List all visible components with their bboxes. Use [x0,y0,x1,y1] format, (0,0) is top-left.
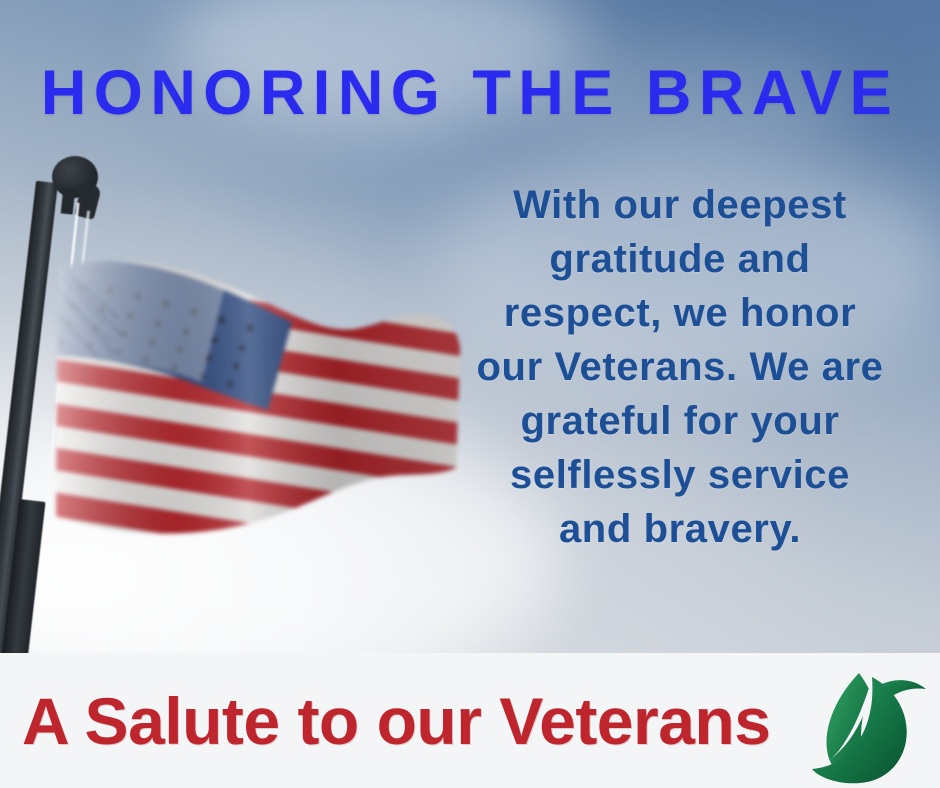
tribute-line: grateful for your [430,394,930,448]
flag-assembly [0,140,500,660]
tribute-line: and bravery. [430,502,930,556]
page-title: HONORING THE BRAVE [0,62,940,125]
bottom-banner: A Salute to our Veterans [0,653,940,788]
tribute-line: selflessly service [430,448,930,502]
tribute-line: gratitude and [430,232,930,286]
leaf-logo-icon [810,661,928,785]
tribute-message: With our deepest gratitude and respect, … [430,178,930,556]
american-flag-icon [52,232,462,562]
tribute-line: our Veterans. We are [430,340,930,394]
tribute-line: With our deepest [430,178,930,232]
banner-title: A Salute to our Veterans [22,688,770,754]
veterans-day-poster: HONORING THE BRAVE With our deepest grat… [0,0,940,788]
tribute-line: respect, we honor [430,286,930,340]
flagpole-neck [61,187,76,214]
